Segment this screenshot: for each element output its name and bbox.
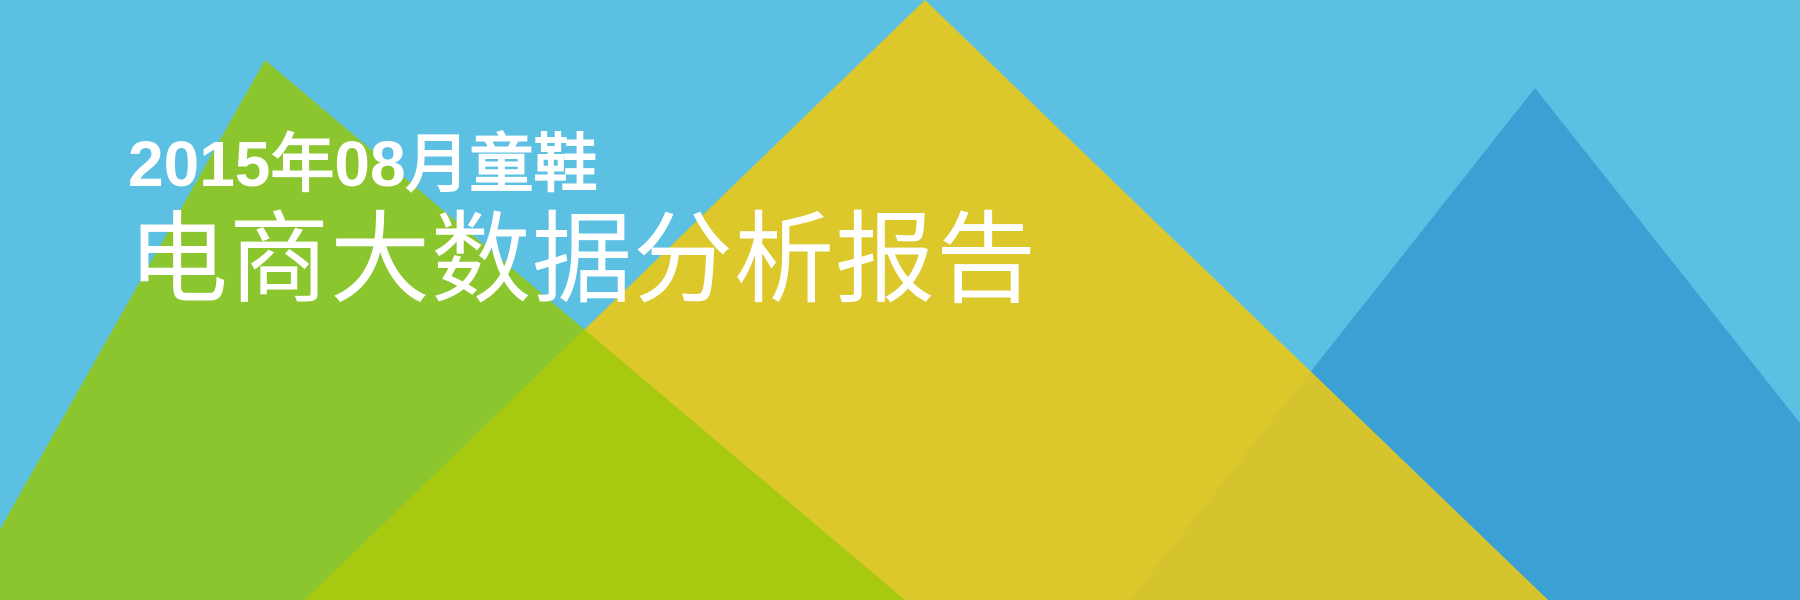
cover-title-block: 2015年08月童鞋 电商大数据分析报告: [128, 132, 1037, 310]
report-main-title: 电商大数据分析报告: [128, 210, 1037, 310]
report-cover-banner: 2015年08月童鞋 电商大数据分析报告: [0, 0, 1800, 600]
report-period-category-title: 2015年08月童鞋: [128, 132, 1037, 196]
